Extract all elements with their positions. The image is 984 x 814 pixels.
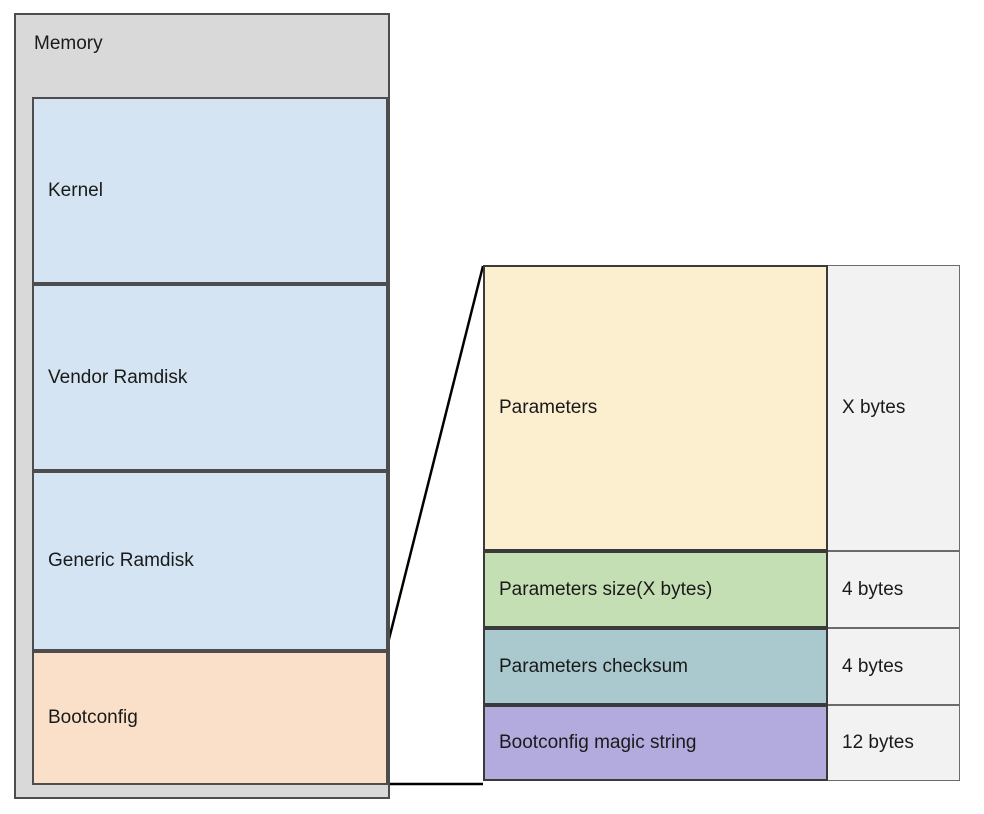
memory-segment-label: Kernel xyxy=(34,180,103,202)
detail-name-label: Parameters checksum xyxy=(485,656,688,678)
detail-size-cell: 4 bytes xyxy=(828,628,960,705)
detail-size-label: 4 bytes xyxy=(828,579,903,601)
memory-segment-label: Bootconfig xyxy=(34,707,138,729)
memory-title: Memory xyxy=(34,33,103,56)
detail-size-cell: X bytes xyxy=(828,265,960,551)
memory-segment-kernel[interactable]: Kernel xyxy=(32,97,388,284)
table-row[interactable]: Parameters checksum 4 bytes xyxy=(483,628,960,705)
detail-name-cell: Parameters checksum xyxy=(483,628,828,705)
detail-name-cell: Bootconfig magic string xyxy=(483,705,828,781)
detail-size-cell: 12 bytes xyxy=(828,705,960,781)
table-row[interactable]: Parameters size(X bytes) 4 bytes xyxy=(483,551,960,628)
detail-size-label: 4 bytes xyxy=(828,656,903,678)
memory-segment-label: Vendor Ramdisk xyxy=(34,367,187,389)
memory-segment-generic-ramdisk[interactable]: Generic Ramdisk xyxy=(32,471,388,651)
detail-size-cell: 4 bytes xyxy=(828,551,960,628)
table-row[interactable]: Parameters X bytes xyxy=(483,265,960,551)
detail-name-cell: Parameters xyxy=(483,265,828,551)
detail-size-label: X bytes xyxy=(828,397,905,419)
diagram-canvas: Memory Kernel Vendor Ramdisk Generic Ram… xyxy=(0,0,984,814)
memory-segment-bootconfig[interactable]: Bootconfig xyxy=(32,651,388,785)
memory-segment-vendor-ramdisk[interactable]: Vendor Ramdisk xyxy=(32,284,388,471)
table-row[interactable]: Bootconfig magic string 12 bytes xyxy=(483,705,960,781)
detail-name-cell: Parameters size(X bytes) xyxy=(483,551,828,628)
detail-name-label: Bootconfig magic string xyxy=(485,732,697,754)
detail-name-label: Parameters size(X bytes) xyxy=(485,579,712,601)
bootconfig-detail-table: Parameters X bytes Parameters size(X byt… xyxy=(483,265,960,781)
memory-segment-label: Generic Ramdisk xyxy=(34,550,194,572)
detail-name-label: Parameters xyxy=(485,397,597,419)
detail-size-label: 12 bytes xyxy=(828,732,914,754)
